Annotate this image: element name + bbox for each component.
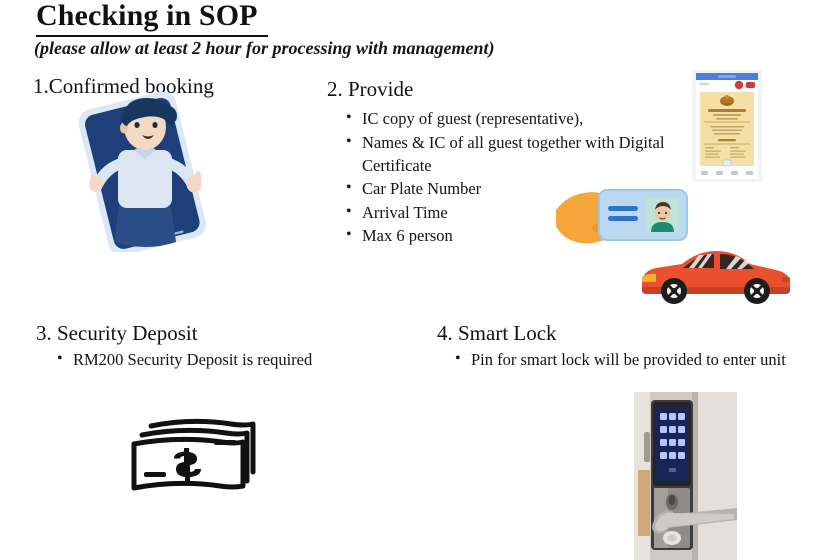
section-heading-smart-lock: 4. Smart Lock	[437, 320, 557, 346]
document-page: Checking in SOP (please allow at least 2…	[0, 0, 820, 560]
smart-lock-list: Pin for smart lock will be provided to e…	[455, 348, 800, 372]
list-item: Pin for smart lock will be provided to e…	[455, 348, 800, 371]
smart-lock-keypad-photo	[634, 392, 737, 560]
person-in-smartphone-illustration	[62, 92, 227, 252]
page-title: Checking in SOP	[36, 0, 268, 37]
page-title-text: Checking in SOP	[36, 0, 268, 37]
stack-of-banknotes-icon	[126, 408, 272, 494]
list-item: Names & IC of all guest together with Di…	[346, 131, 676, 177]
red-car-illustration	[636, 243, 796, 305]
section-heading-provide: 2. Provide	[327, 76, 413, 102]
list-item: IC copy of guest (representative),	[346, 107, 676, 130]
hand-holding-id-card-illustration	[556, 184, 691, 250]
page-subtitle: (please allow at least 2 hour for proces…	[34, 36, 495, 60]
digital-vaccination-certificate-screenshot	[692, 70, 762, 182]
security-deposit-list: RM200 Security Deposit is required	[57, 348, 417, 372]
section-heading-security-deposit: 3. Security Deposit	[36, 320, 198, 346]
list-item: RM200 Security Deposit is required	[57, 348, 417, 371]
